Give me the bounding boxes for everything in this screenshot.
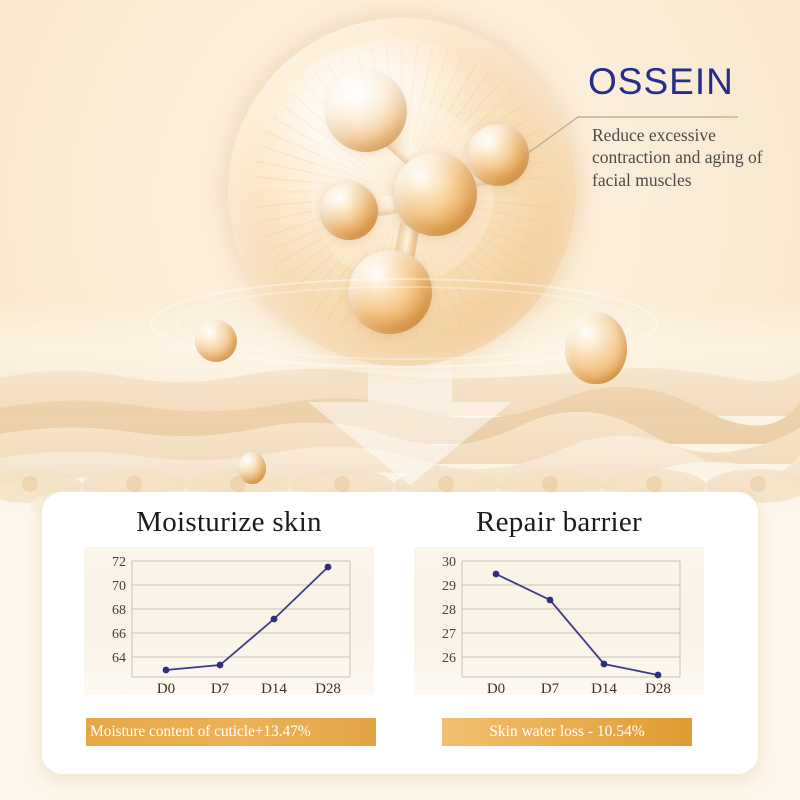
svg-text:D7: D7 <box>541 681 560 695</box>
ingredient-title: OSSEIN <box>588 63 734 100</box>
svg-text:27: 27 <box>442 627 456 642</box>
chart-title-moisturize: Moisturize skin <box>64 506 394 539</box>
svg-text:28: 28 <box>442 603 456 618</box>
molecule-atom-left <box>320 182 378 240</box>
chart-caption-moisturize: Moisture content of cuticle+13.47% <box>86 718 376 746</box>
svg-text:D28: D28 <box>645 681 671 695</box>
line-chart-repair: 30 29 28 27 26 D0 D7 <box>414 547 704 695</box>
svg-text:70: 70 <box>112 579 126 594</box>
results-panel: Moisturize skin 72 70 <box>42 492 758 774</box>
chart-card-moisturize: Moisturize skin 72 70 <box>64 492 394 774</box>
advertisement-canvas: OSSEIN Reduce excessive contraction and … <box>0 0 800 800</box>
svg-text:66: 66 <box>112 627 126 642</box>
molecule-atom-center <box>393 152 477 236</box>
ingredient-description: Reduce excessive contraction and aging o… <box>592 124 797 191</box>
svg-text:68: 68 <box>112 603 126 618</box>
svg-text:D7: D7 <box>211 681 230 695</box>
svg-text:30: 30 <box>442 555 456 570</box>
svg-text:D0: D0 <box>157 681 175 695</box>
plot-area-moisturize: 72 70 68 66 64 D0 D7 <box>84 547 374 695</box>
chart-title-repair: Repair barrier <box>394 506 724 539</box>
svg-text:64: 64 <box>112 651 126 666</box>
svg-text:29: 29 <box>442 579 456 594</box>
svg-text:D14: D14 <box>261 681 287 695</box>
absorption-arrow <box>300 352 520 487</box>
svg-text:D0: D0 <box>487 681 505 695</box>
svg-text:26: 26 <box>442 651 456 666</box>
droplet-right <box>565 312 627 384</box>
chart-card-repair: Repair barrier 30 29 <box>394 492 724 774</box>
chart-caption-repair-text: Skin water loss - 10.54% <box>489 723 644 741</box>
svg-text:D28: D28 <box>315 681 341 695</box>
plot-area-repair: 30 29 28 27 26 D0 D7 <box>414 547 704 695</box>
droplet-bottom <box>238 452 266 484</box>
chart-caption-repair: Skin water loss - 10.54% <box>442 718 692 746</box>
sphere-ripple-inner <box>176 286 632 360</box>
droplet-left <box>195 320 237 362</box>
svg-text:D14: D14 <box>591 681 617 695</box>
line-chart-moisturize: 72 70 68 66 64 D0 D7 <box>84 547 374 695</box>
svg-text:72: 72 <box>112 555 126 570</box>
chart-caption-moisturize-text: Moisture content of cuticle+13.47% <box>90 723 311 741</box>
